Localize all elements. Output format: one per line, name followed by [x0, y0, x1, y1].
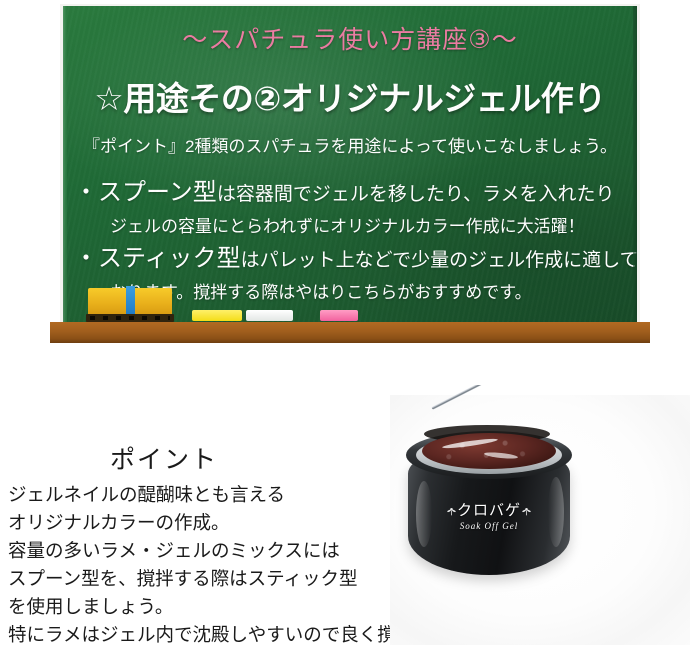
jar-label-english: Soak Off Gel — [408, 521, 570, 531]
blackboard-subtitle: 〜スパチュラ使い方講座③〜 — [63, 20, 637, 56]
bullet-spoon-line2: ジェルの容量にとらわれずにオリジナルカラー作成に大活躍！ — [74, 212, 626, 237]
blackboard-bullet-spoon: ・スプーン型は容器間でジェルを移したり、ラメを入れたり ジェルの容量にとらわれず… — [74, 172, 626, 237]
flower-left-icon — [446, 506, 457, 517]
description-line: 特にラメはジェル内で沈殿しやすいので良く撹拌しましょう。 — [8, 621, 438, 649]
product-photo: クロバゲ Soak Off Gel — [380, 385, 700, 668]
description-line: 容量の多いラメ・ジェルのミックスには — [8, 537, 438, 565]
point-heading: ポイント — [110, 440, 218, 476]
jar-label-japanese-row: クロバゲ — [408, 503, 570, 519]
flower-right-icon — [521, 506, 532, 517]
bullet-spoon-line1: ・スプーン型は容器間でジェルを移したり、ラメを入れたり — [74, 172, 626, 207]
blackboard-left-edge — [63, 6, 67, 332]
gel-jar-label: クロバゲ Soak Off Gel — [408, 503, 570, 531]
bullet-stick-rest: はパレット上などで少量のジェル作成に適して — [241, 250, 637, 271]
blackboard-ledge — [50, 322, 650, 343]
description-line: スプーン型を、撹拌する際はスティック型 — [8, 565, 438, 593]
bullet-spoon-lead: ・スプーン型 — [74, 179, 217, 206]
chalk-white-icon — [246, 310, 293, 321]
description-section: ポイント ジェルネイルの醍醐味とも言える オリジナルカラーの作成。 容量の多いラ… — [0, 345, 700, 668]
eraser-band — [126, 286, 135, 316]
description-line: を使用しましょう。 — [8, 593, 438, 621]
blackboard-title: ☆用途その②オリジナルジェル作り — [63, 72, 637, 120]
description-line: オリジナルカラーの作成。 — [8, 509, 438, 537]
description-text-block: ジェルネイルの醍醐味とも言える オリジナルカラーの作成。 容量の多いラメ・ジェル… — [8, 481, 438, 649]
blackboard-surface: 〜スパチュラ使い方講座③〜 ☆用途その②オリジナルジェル作り 『ポイント』2種類… — [63, 6, 637, 332]
chalk-pink-icon — [320, 310, 358, 321]
bullet-spoon-rest: は容器間でジェルを移したり、ラメを入れたり — [217, 184, 615, 205]
blackboard-point-line: 『ポイント』2種類のスパチュラを用途によって使いこなしましょう。 — [63, 132, 637, 157]
bullet-stick-line1: ・スティック型はパレット上などで少量のジェル作成に適して — [74, 238, 626, 273]
eraser-base — [86, 314, 174, 322]
blackboard-section: 〜スパチュラ使い方講座③〜 ☆用途その②オリジナルジェル作り 『ポイント』2種類… — [0, 0, 700, 345]
description-line: ジェルネイルの醍醐味とも言える — [8, 481, 438, 509]
chalk-yellow-icon — [192, 310, 242, 321]
jar-label-jp-text: クロバゲ — [457, 502, 521, 519]
bullet-stick-lead: ・スティック型 — [74, 245, 241, 272]
blackboard-right-edge — [633, 6, 637, 332]
